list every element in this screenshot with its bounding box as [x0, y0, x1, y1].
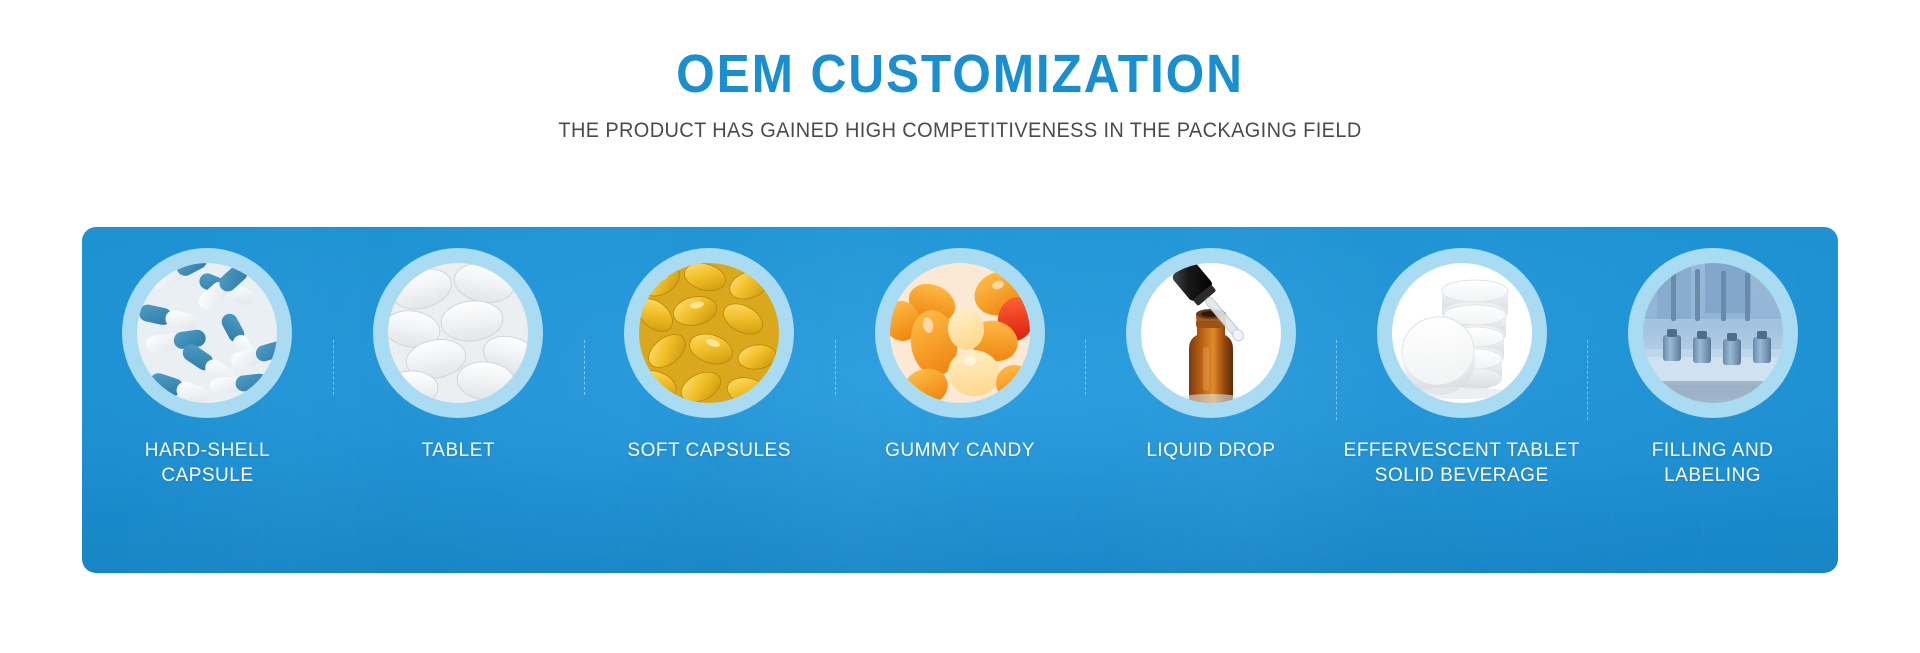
effervescent-tablet-image [1392, 263, 1532, 403]
category-circle-frame [1377, 248, 1547, 418]
tablet-image [388, 263, 528, 403]
category-item-soft-capsules[interactable]: SOFT CAPSULES [584, 248, 835, 463]
page-header: OEM CUSTOMIZATION THE PRODUCT HAS GAINED… [0, 0, 1920, 143]
category-item-effervescent-tablet[interactable]: EFFERVESCENT TABLET SOLID BEVERAGE [1336, 248, 1587, 488]
category-label: HARD-SHELL CAPSULE [145, 438, 270, 488]
gummy-candy-image [890, 263, 1030, 403]
category-item-filling-and-labeling[interactable]: FILLING AND LABELING [1587, 248, 1838, 488]
product-categories-panel: HARD-SHELL CAPSULE [82, 227, 1838, 573]
soft-capsules-image [639, 263, 779, 403]
category-label: FILLING AND LABELING [1652, 438, 1774, 488]
category-circle-frame [373, 248, 543, 418]
category-circle-frame [624, 248, 794, 418]
category-label: EFFERVESCENT TABLET SOLID BEVERAGE [1344, 438, 1580, 488]
category-circle-frame [122, 248, 292, 418]
category-label: TABLET [422, 438, 495, 463]
category-label: LIQUID DROP [1146, 438, 1275, 463]
category-label: SOFT CAPSULES [627, 438, 790, 463]
liquid-drop-image [1141, 263, 1281, 403]
product-category-list: HARD-SHELL CAPSULE [82, 227, 1838, 573]
category-item-liquid-drop[interactable]: LIQUID DROP [1085, 248, 1336, 463]
hard-shell-capsule-image [137, 263, 277, 403]
filling-and-labeling-image [1643, 263, 1783, 403]
category-label: GUMMY CANDY [885, 438, 1035, 463]
category-circle-frame [875, 248, 1045, 418]
category-item-gummy-candy[interactable]: GUMMY CANDY [835, 248, 1086, 463]
page-subtitle: THE PRODUCT HAS GAINED HIGH COMPETITIVEN… [48, 119, 1872, 143]
page-title: OEM CUSTOMIZATION [77, 46, 1843, 103]
category-circle-frame [1628, 248, 1798, 418]
category-item-tablet[interactable]: TABLET [333, 248, 584, 463]
category-item-hard-shell-capsule[interactable]: HARD-SHELL CAPSULE [82, 248, 333, 488]
category-circle-frame [1126, 248, 1296, 418]
